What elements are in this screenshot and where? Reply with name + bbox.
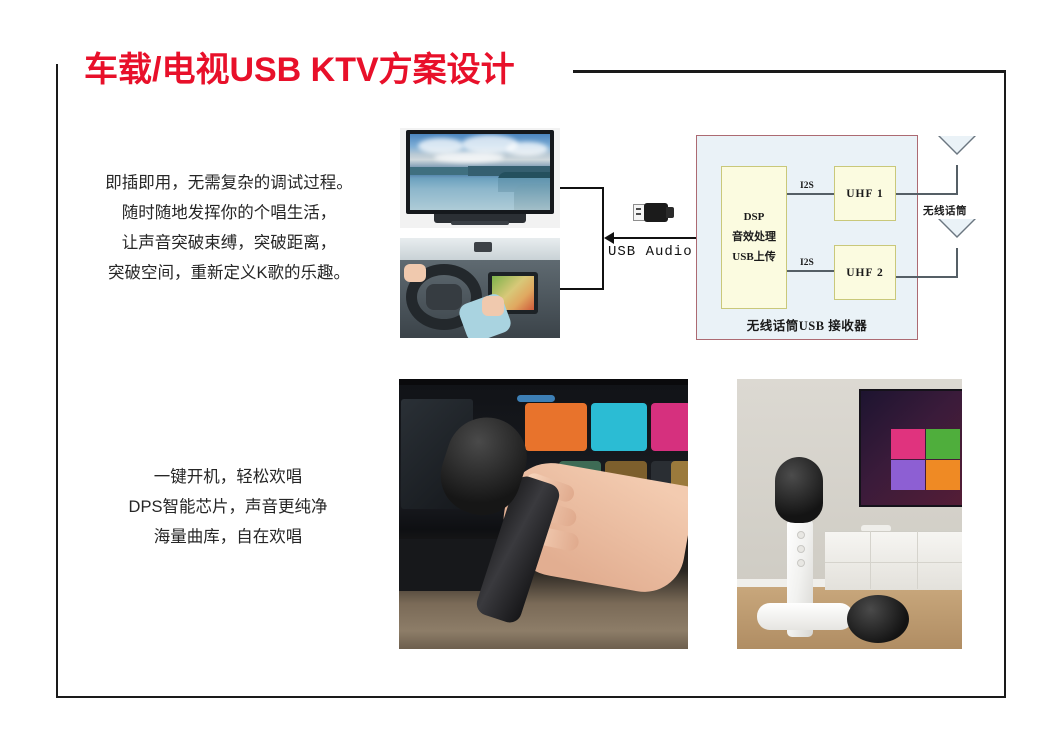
usb-audio-label: USB Audio (608, 244, 693, 260)
title-underline-rule (573, 70, 1006, 73)
screen-tile (525, 403, 587, 451)
dsp-title: DSP (744, 212, 765, 223)
tv-app-tile (891, 460, 925, 490)
feature-copy-top: 即插即用，无需复杂的调试过程。 随时随地发挥你的个唱生活， 让声音突破束缚，突破… (74, 168, 384, 288)
microphone-foam-head-second (847, 595, 909, 643)
uhf1-block: UHF 1 (834, 166, 896, 221)
screen-tile (591, 403, 647, 451)
photo-car-interior (400, 238, 560, 338)
frame-bottom-border (56, 696, 1006, 698)
screen-label-chip (517, 395, 555, 402)
lake-shape (410, 178, 550, 210)
uhf2-block: UHF 2 (834, 245, 896, 300)
wire-vertical-bottom (602, 238, 604, 290)
frame-right-border (1004, 70, 1006, 698)
receiver-caption: 无线话筒USB 接收器 (696, 315, 918, 334)
usb-plug-body-shape (644, 203, 668, 222)
tv-foot (451, 221, 509, 225)
frame-left-border (56, 64, 58, 698)
arrow-head-icon (604, 232, 614, 244)
microphone-button[interactable] (797, 559, 805, 567)
antenna-feed-1 (896, 193, 958, 195)
copy-line: DPS智能芯片，声音更纯净 (78, 492, 378, 522)
wire-from-car (560, 288, 604, 290)
mountain-shape (410, 167, 474, 175)
screen-tile (651, 403, 688, 451)
dsp-block: DSP 音效处理 USB上传 (721, 166, 787, 309)
usb-plug-tip-shape (666, 207, 674, 218)
wire-from-tv (560, 187, 604, 189)
tv-screen (410, 134, 550, 210)
dsp-function-2: USB上传 (732, 252, 775, 263)
copy-line: 即插即用，无需复杂的调试过程。 (74, 168, 384, 198)
wireless-mic-label: 无线话筒 (923, 203, 967, 218)
i2s-line-2 (787, 270, 834, 272)
wire-usb-audio (614, 237, 698, 239)
antenna-feed-2 (896, 276, 958, 278)
copy-line: 海量曲库，自在欢唱 (78, 522, 378, 552)
driver-hand-shape (404, 264, 426, 282)
feature-copy-bottom: 一键开机，轻松欢唱 DPS智能芯片，声音更纯净 海量曲库，自在欢唱 (78, 462, 378, 552)
copy-line: 随时随地发挥你的个唱生活， (74, 198, 384, 228)
copy-line: 让声音突破束缚，突破距离， (74, 228, 384, 258)
tv-app-tile (926, 429, 960, 459)
cabinet-seam (825, 562, 962, 563)
driver-hand-shape (482, 296, 504, 316)
photo-television (400, 128, 560, 228)
copy-line: 一键开机，轻松欢唱 (78, 462, 378, 492)
tv-app-tile (891, 429, 925, 459)
antenna-icon-inner (940, 219, 974, 236)
rearview-mirror-shape (474, 242, 492, 252)
i2s-line-1 (787, 193, 834, 195)
microphone-foam-head (775, 457, 823, 523)
photo-living-room (737, 379, 962, 649)
slide-canvas: 车载/电视USB KTV方案设计 即插即用，无需复杂的调试过程。 随时随地发挥你… (0, 0, 1061, 749)
page-title: 车载/电视USB KTV方案设计 (84, 42, 515, 91)
cabinet-seam (870, 531, 871, 589)
wall-television (859, 389, 962, 507)
usb-pin-shape (636, 213, 641, 215)
cabinet-seam (917, 531, 918, 589)
antenna-stem-2 (956, 248, 958, 277)
tv-cabinet (825, 531, 962, 590)
copy-line: 突破空间，重新定义K歌的乐趣。 (74, 258, 384, 288)
antenna-icon-inner (940, 136, 974, 153)
tv-app-tile (926, 460, 960, 490)
dsp-function-1: 音效处理 (732, 232, 776, 243)
microphone-button[interactable] (797, 545, 805, 553)
i2s-label-1: I2S (800, 181, 814, 191)
photo-mic-in-car (399, 379, 688, 649)
microphone-handle-second (757, 603, 853, 630)
tv-bezel (406, 130, 554, 214)
steering-hub-shape (426, 284, 462, 310)
antenna-stem-1 (956, 165, 958, 194)
microphone-button[interactable] (797, 531, 805, 539)
cloud-shape (506, 142, 548, 156)
cloud-shape (434, 152, 504, 163)
i2s-label-2: I2S (800, 258, 814, 268)
usb-pin-shape (636, 208, 641, 210)
